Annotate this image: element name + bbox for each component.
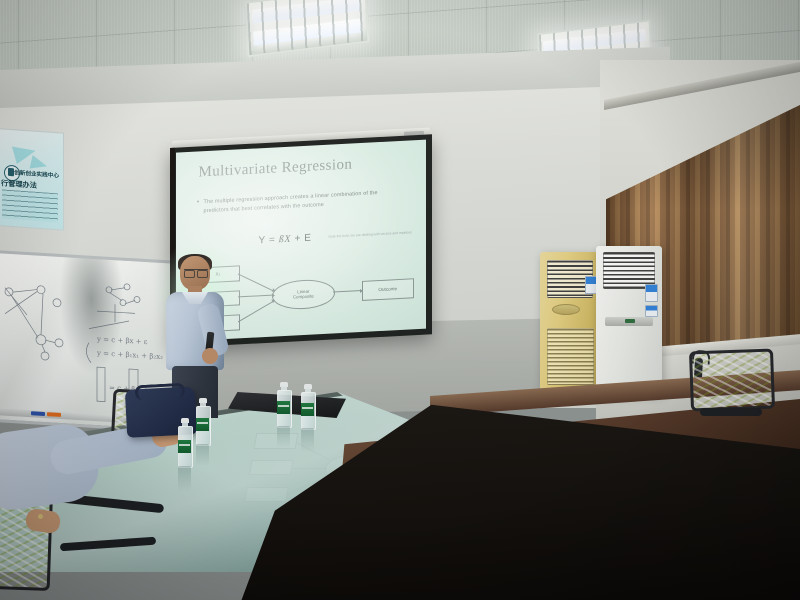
glasses-icon — [184, 269, 208, 276]
ac-yellow-emblem — [552, 304, 580, 315]
outcome-label: Outcome — [378, 286, 397, 292]
slide-bullet-label: The multiple regression approach creates… — [204, 190, 378, 213]
wall-poster: 创新创业实践中心 行管理办法 — [0, 128, 64, 231]
whiteboard-marker-orange — [47, 412, 61, 417]
attendee-hand-lower — [25, 508, 62, 535]
formula-suffix: + E — [291, 233, 311, 245]
slide-title: Multivariate Regression — [199, 157, 353, 182]
ac-white-energy-label-2 — [645, 305, 658, 317]
chair-green-right-frame — [700, 408, 762, 416]
whiteboard-marker-blue — [31, 411, 45, 416]
ac-white-display — [625, 319, 635, 323]
bag-strap — [135, 383, 186, 401]
ac-white-energy-label — [645, 284, 658, 302]
diagram-node-linear-composite: Linear Composite — [272, 278, 335, 310]
chair-green-right[interactable] — [689, 349, 775, 412]
air-conditioner-white — [596, 246, 662, 394]
bullet-dot-icon — [197, 201, 199, 203]
formula-prefix: Y = — [259, 234, 279, 246]
slide-formula: Y = ßX + E — [259, 233, 312, 247]
composite-line-2: Composite — [293, 294, 314, 301]
presentation-room-photo: 创新创业实践中心 行管理办法 — [0, 0, 800, 600]
presenter-hand — [202, 348, 218, 364]
poster-line-2: 行管理办法 — [1, 178, 37, 191]
slide-bullet-text: The multiple regression approach creates… — [204, 188, 404, 215]
ac-yellow-lower-grille — [547, 328, 594, 384]
attendee — [0, 418, 190, 548]
poster-line-1: 创新创业实践中心 — [14, 169, 59, 180]
air-conditioner-yellow — [540, 252, 602, 388]
formula-beta: ßX — [279, 234, 291, 246]
diagram-arrow-outcome — [333, 290, 362, 292]
slide-note: Note the bold, we are dealing with vecto… — [329, 230, 414, 240]
poster-body-text — [2, 190, 57, 223]
diagram-node-outcome: Outcome — [362, 278, 414, 300]
attendee-ring — [38, 514, 43, 519]
svg-text:y = c + βx + ε: y = c + βx + ε — [96, 335, 148, 346]
